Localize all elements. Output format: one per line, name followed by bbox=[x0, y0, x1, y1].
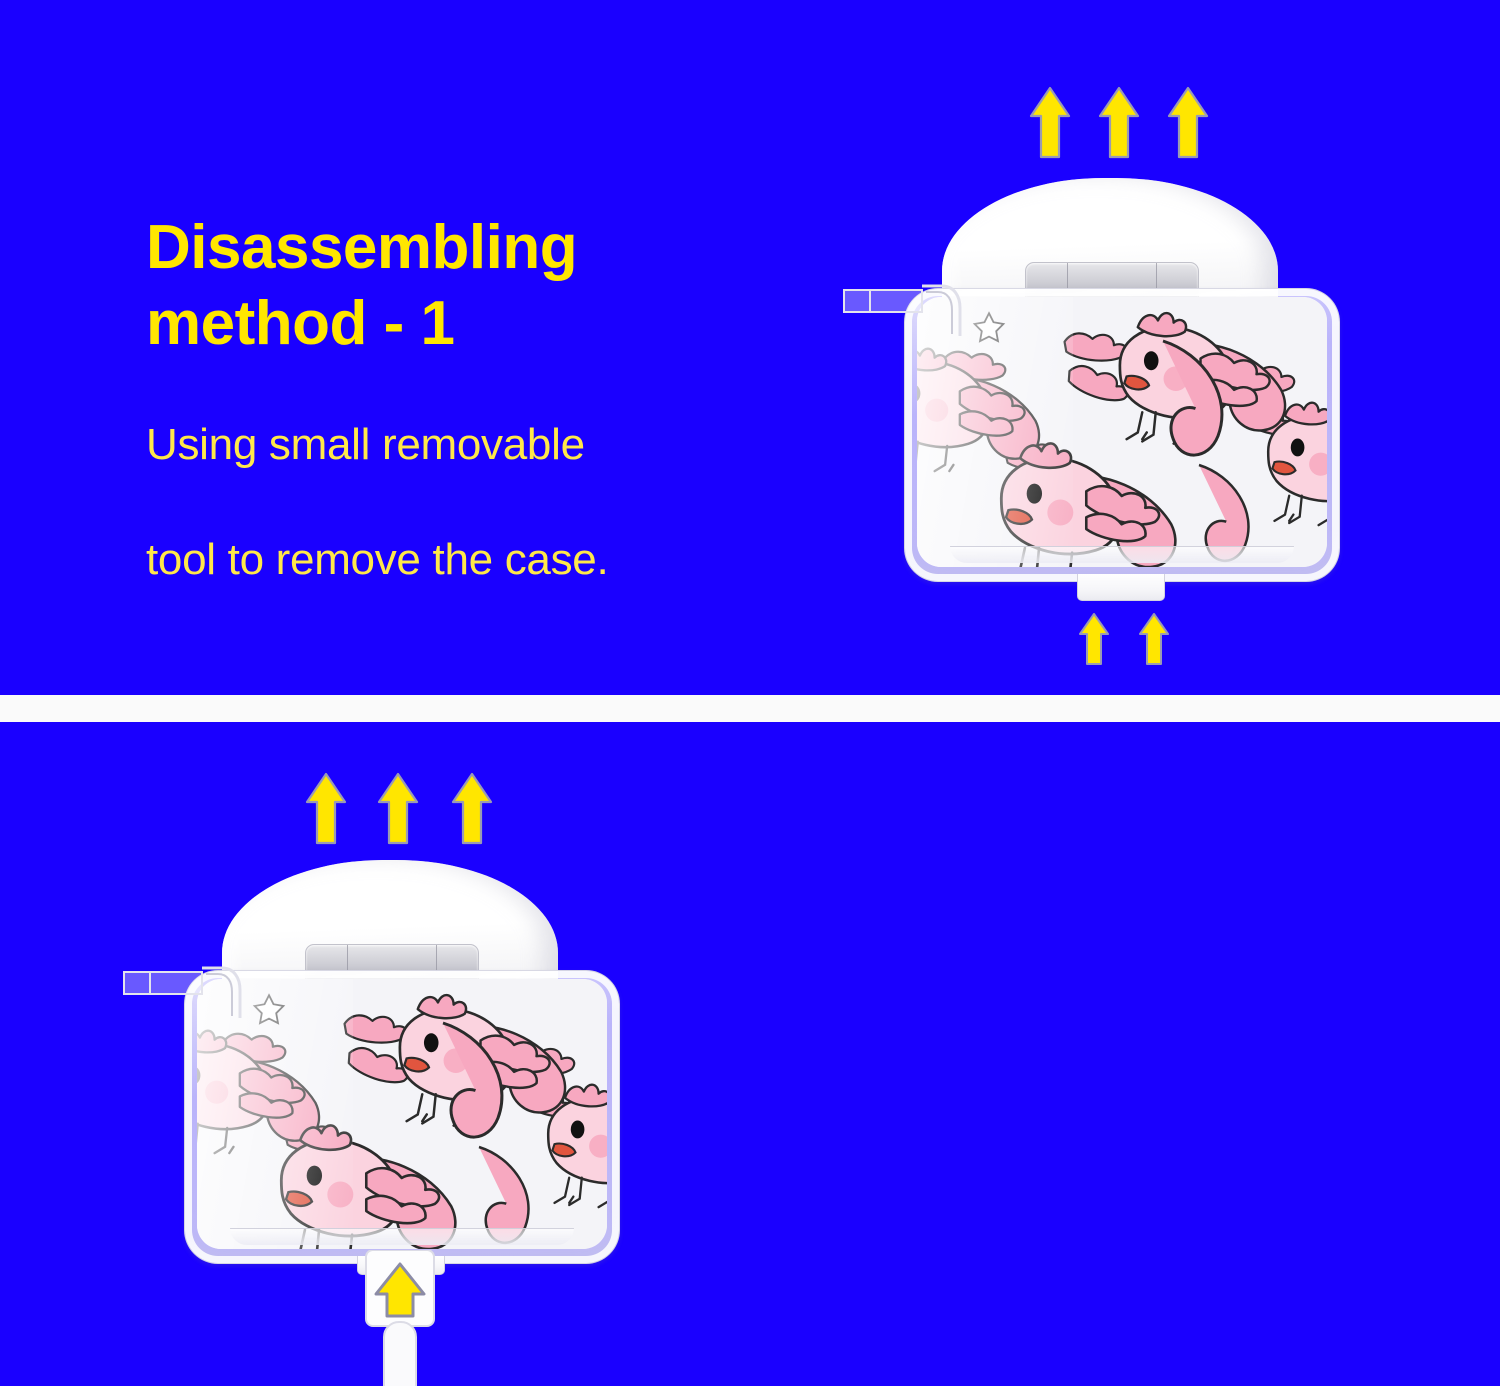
method-1-body-line-1: Using small removable bbox=[146, 415, 608, 476]
case-cover-shell bbox=[184, 970, 620, 1264]
case-bottom-lip bbox=[950, 546, 1294, 563]
up-arrow-icon bbox=[450, 772, 494, 846]
case-cover-window bbox=[197, 979, 607, 1249]
method-1-text-block: Disassembling method - 1 Using small rem… bbox=[146, 210, 608, 591]
panel-method-2: Disassembling method - 2 Using charging … bbox=[0, 722, 1500, 1386]
case-bottom-tab bbox=[1077, 574, 1165, 601]
method-1-body-line-2: tool to remove the case. bbox=[146, 530, 608, 591]
up-arrow-icon bbox=[1028, 86, 1072, 160]
panel-divider bbox=[0, 695, 1500, 722]
up-arrow-icon bbox=[1138, 612, 1170, 666]
airpods-case-assembly bbox=[160, 860, 620, 1280]
removable-tool-icon bbox=[842, 278, 966, 338]
case-cover-window bbox=[917, 297, 1327, 567]
charging-cable-icon bbox=[338, 1250, 462, 1386]
axolotl-pattern bbox=[197, 979, 607, 1249]
airpods-case-assembly bbox=[880, 178, 1340, 598]
instruction-graphic: Disassembling method - 1 Using small rem… bbox=[0, 0, 1500, 1386]
case-cover-shell bbox=[904, 288, 1340, 582]
up-arrow-icon bbox=[1097, 86, 1141, 160]
case-bottom-lip bbox=[230, 1228, 574, 1245]
method-1-heading-line-2: method - 1 bbox=[146, 286, 608, 362]
up-arrow-icon bbox=[304, 772, 348, 846]
removable-tool-icon bbox=[122, 960, 246, 1020]
up-arrow-icon bbox=[1166, 86, 1210, 160]
up-arrow-icon bbox=[376, 772, 420, 846]
up-arrow-icon bbox=[1078, 612, 1110, 666]
axolotl-pattern bbox=[917, 297, 1327, 567]
panel-method-1: Disassembling method - 1 Using small rem… bbox=[0, 0, 1500, 695]
method-1-heading-line-1: Disassembling bbox=[146, 210, 608, 286]
